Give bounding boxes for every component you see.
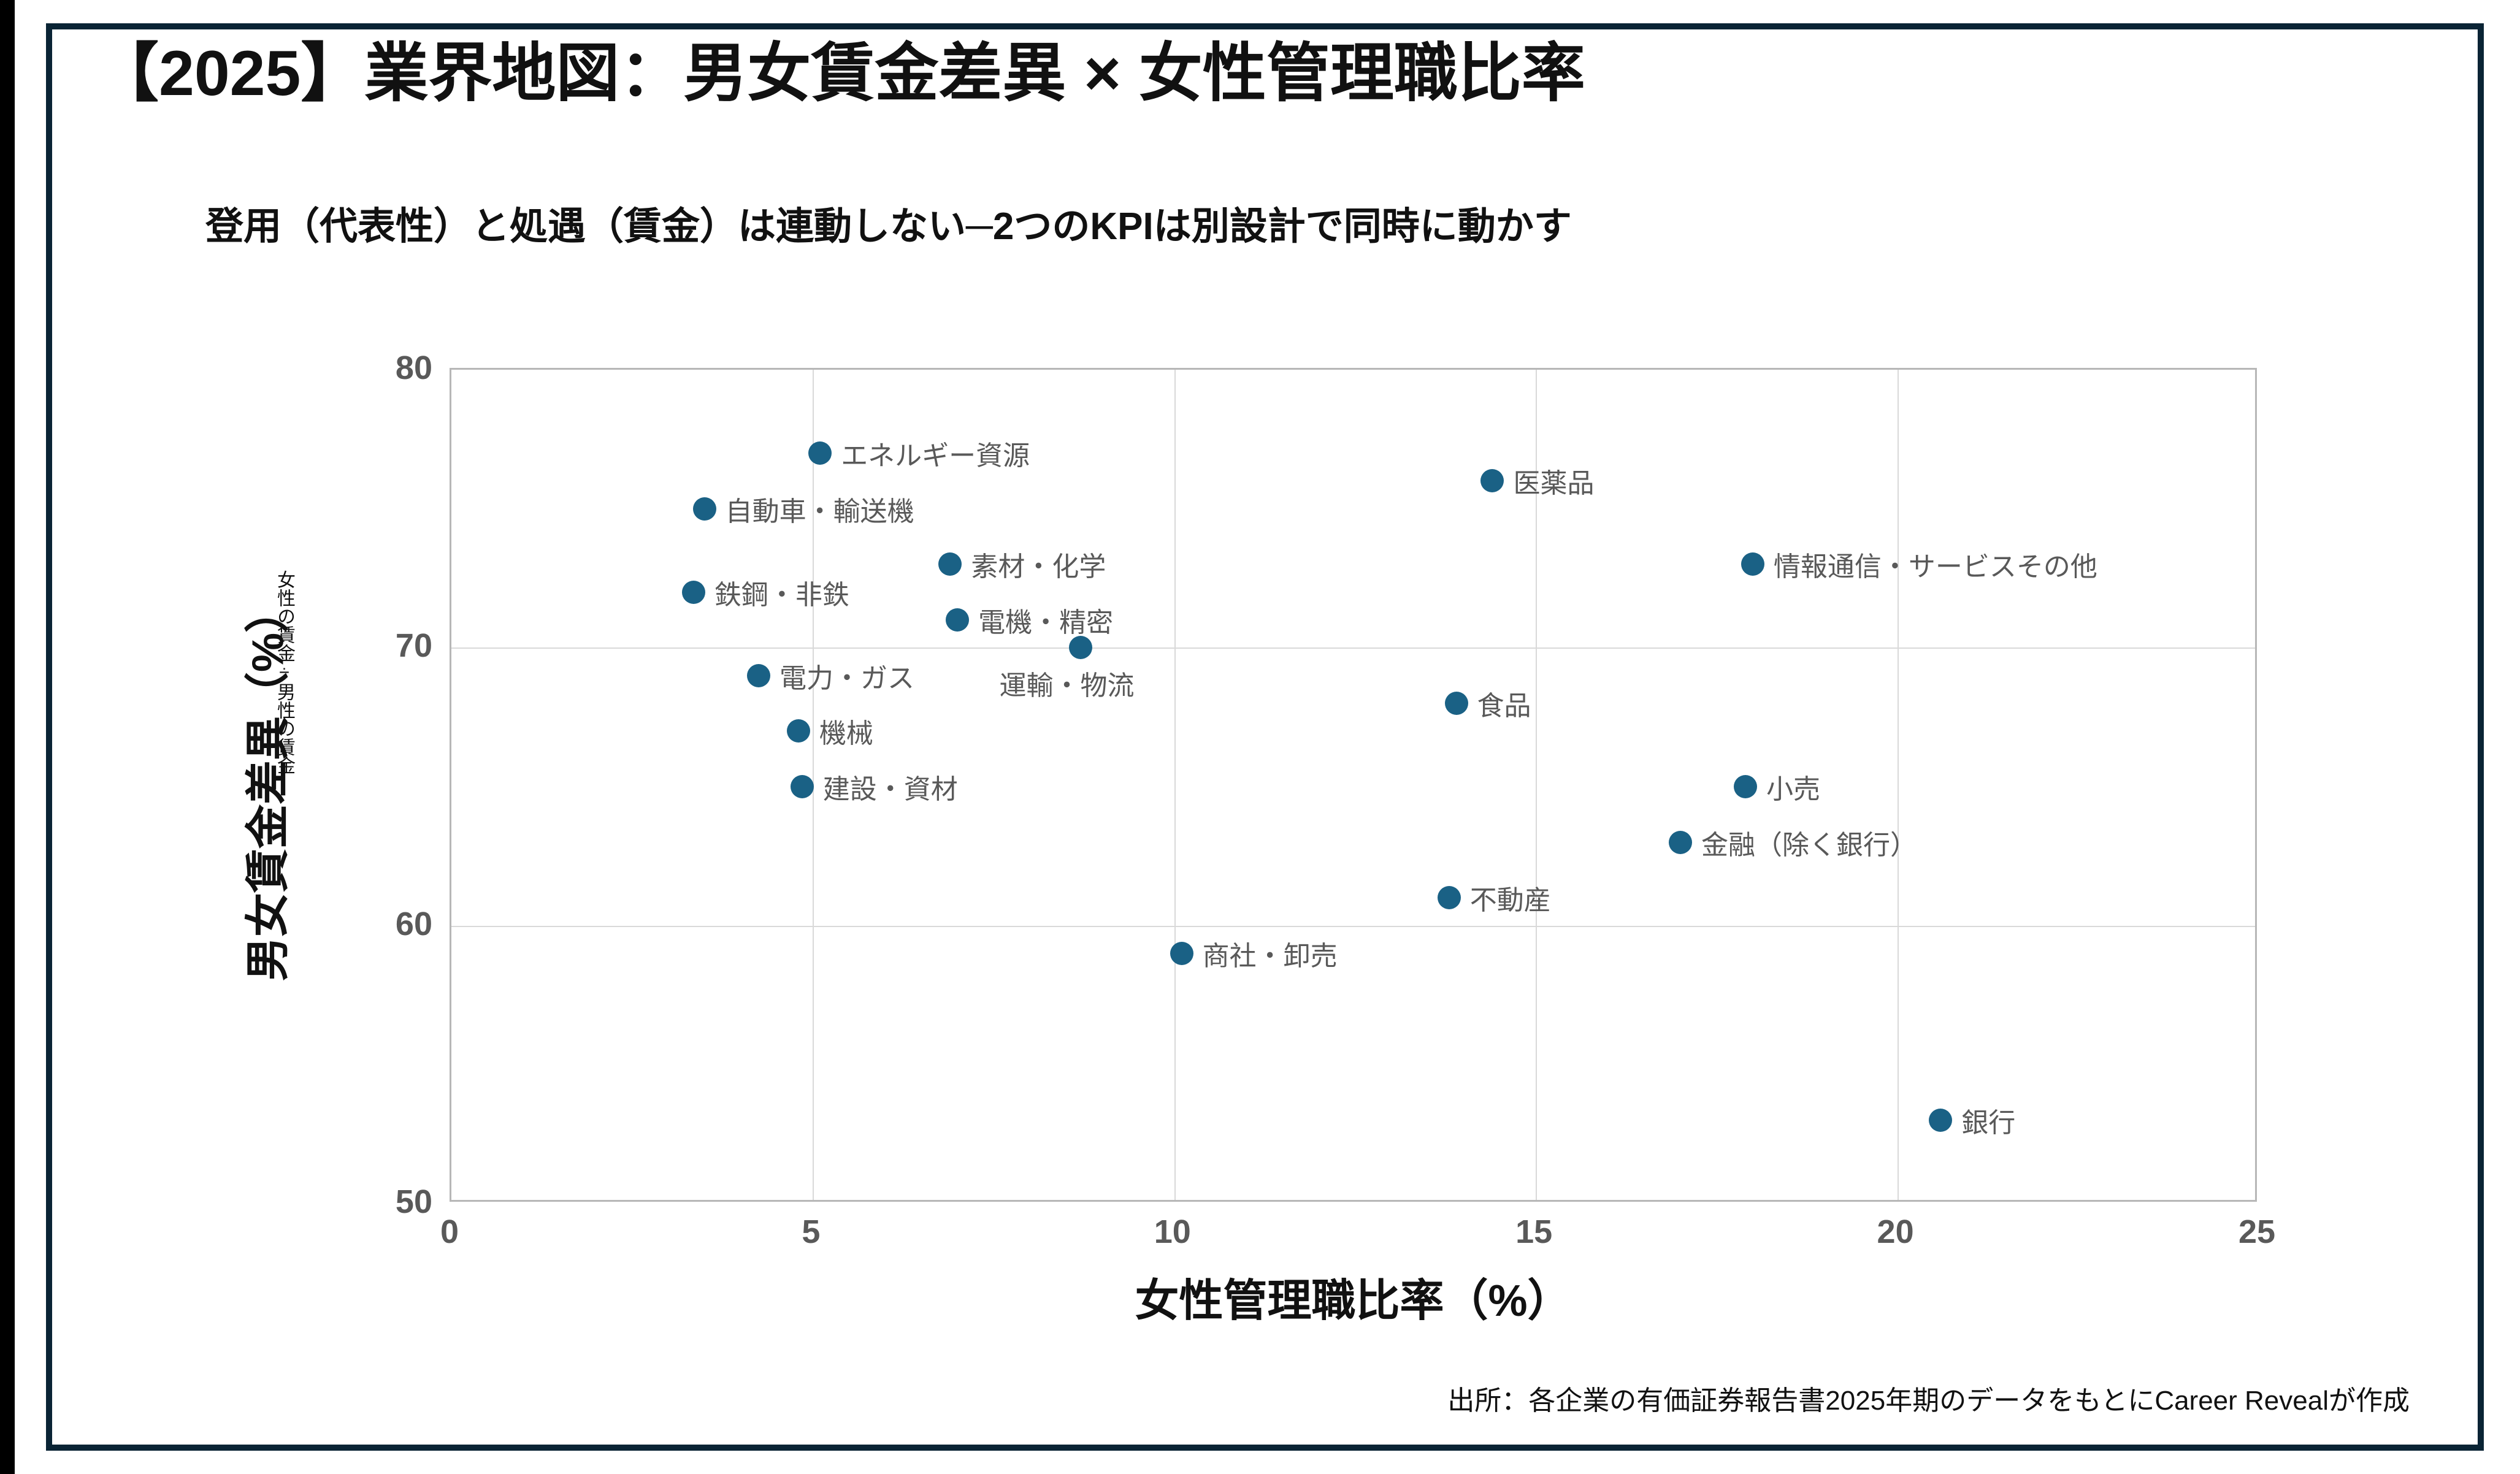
scatter-point-label: 情報通信・サービスその他 <box>1774 544 2097 584</box>
scatter-point[interactable] <box>682 581 705 604</box>
scatter-point-label: 鉄鋼・非鉄 <box>714 573 849 612</box>
gridline-vertical <box>1898 370 1899 1200</box>
x-axis-tick-label: 0 <box>400 1213 499 1251</box>
scatter-point[interactable] <box>1438 886 1461 909</box>
scatter-plot-area: エネルギー資源自動車・輸送機素材・化学情報通信・サービスその他鉄鋼・非鉄電機・精… <box>450 368 2257 1202</box>
page-subtitle: 登用（代表性）と処遇（賃金）は連動しない─2つのKPIは別設計で同時に動かす <box>205 195 2413 250</box>
slide-root: 【2025】業界地図：男女賃金差異 × 女性管理職比率 登用（代表性）と処遇（賃… <box>0 0 2520 1474</box>
gridline-vertical <box>1174 370 1176 1200</box>
scatter-point[interactable] <box>787 719 810 743</box>
page-title: 【2025】業界地図：男女賃金差異 × 女性管理職比率 <box>95 34 2426 113</box>
scatter-point[interactable] <box>1170 942 1193 965</box>
scatter-point-label: 建設・資材 <box>823 767 958 806</box>
scatter-point[interactable] <box>1069 636 1092 659</box>
x-axis-tick-label: 25 <box>2208 1213 2306 1251</box>
scatter-point-label: 自動車・輸送機 <box>726 489 914 529</box>
x-axis-tick-label: 20 <box>1847 1213 1945 1251</box>
scatter-point[interactable] <box>1734 775 1757 798</box>
scatter-point-label: 電機・精密 <box>978 600 1113 640</box>
y-axis-tick-label: 80 <box>340 349 432 387</box>
x-axis-tick-label: 15 <box>1485 1213 1583 1251</box>
scatter-point-label: 機械 <box>819 711 873 750</box>
gridline-horizontal <box>451 926 2255 927</box>
scatter-point[interactable] <box>791 775 814 798</box>
scatter-point[interactable] <box>1929 1109 1952 1132</box>
source-note: 出所：各企業の有価証券報告書2025年期のデータをもとにCareer Revea… <box>1447 1378 2410 1418</box>
scatter-point-label: 電力・ガス <box>779 656 914 695</box>
scatter-point[interactable] <box>747 664 770 687</box>
scatter-point[interactable] <box>1445 692 1468 715</box>
x-axis-tick-label: 10 <box>1124 1213 1222 1251</box>
x-axis-title: 女性管理職比率（%） <box>450 1264 2257 1329</box>
scatter-point[interactable] <box>693 497 716 521</box>
scatter-point[interactable] <box>938 552 962 576</box>
x-axis-tick-label: 5 <box>762 1213 860 1251</box>
scatter-point-label: 食品 <box>1477 684 1531 723</box>
scatter-point[interactable] <box>1669 831 1692 854</box>
scatter-point-label: 医薬品 <box>1513 461 1594 500</box>
scatter-point-label: 銀行 <box>1961 1101 2015 1140</box>
scatter-point-label: エネルギー資源 <box>841 433 1030 473</box>
scatter-point[interactable] <box>946 608 969 632</box>
scatter-point-label: 商社・卸売 <box>1203 934 1338 973</box>
y-axis-tick-label: 70 <box>340 627 432 665</box>
scatter-point-label: 素材・化学 <box>971 544 1106 584</box>
left-edge-strip <box>0 0 15 1474</box>
y-axis-note: 女性の賃金÷男性の賃金 <box>265 570 293 774</box>
scatter-point-label: 不動産 <box>1470 878 1551 917</box>
scatter-point-label: 運輸・物流 <box>1000 663 1135 703</box>
scatter-point[interactable] <box>1741 552 1764 576</box>
scatter-point[interactable] <box>808 441 832 465</box>
scatter-point[interactable] <box>1480 469 1504 492</box>
gridline-horizontal <box>451 647 2255 649</box>
y-axis-tick-label: 60 <box>340 905 432 943</box>
scatter-point-label: 金融（除く銀行） <box>1701 823 1917 862</box>
scatter-point-label: 小売 <box>1766 767 1820 806</box>
